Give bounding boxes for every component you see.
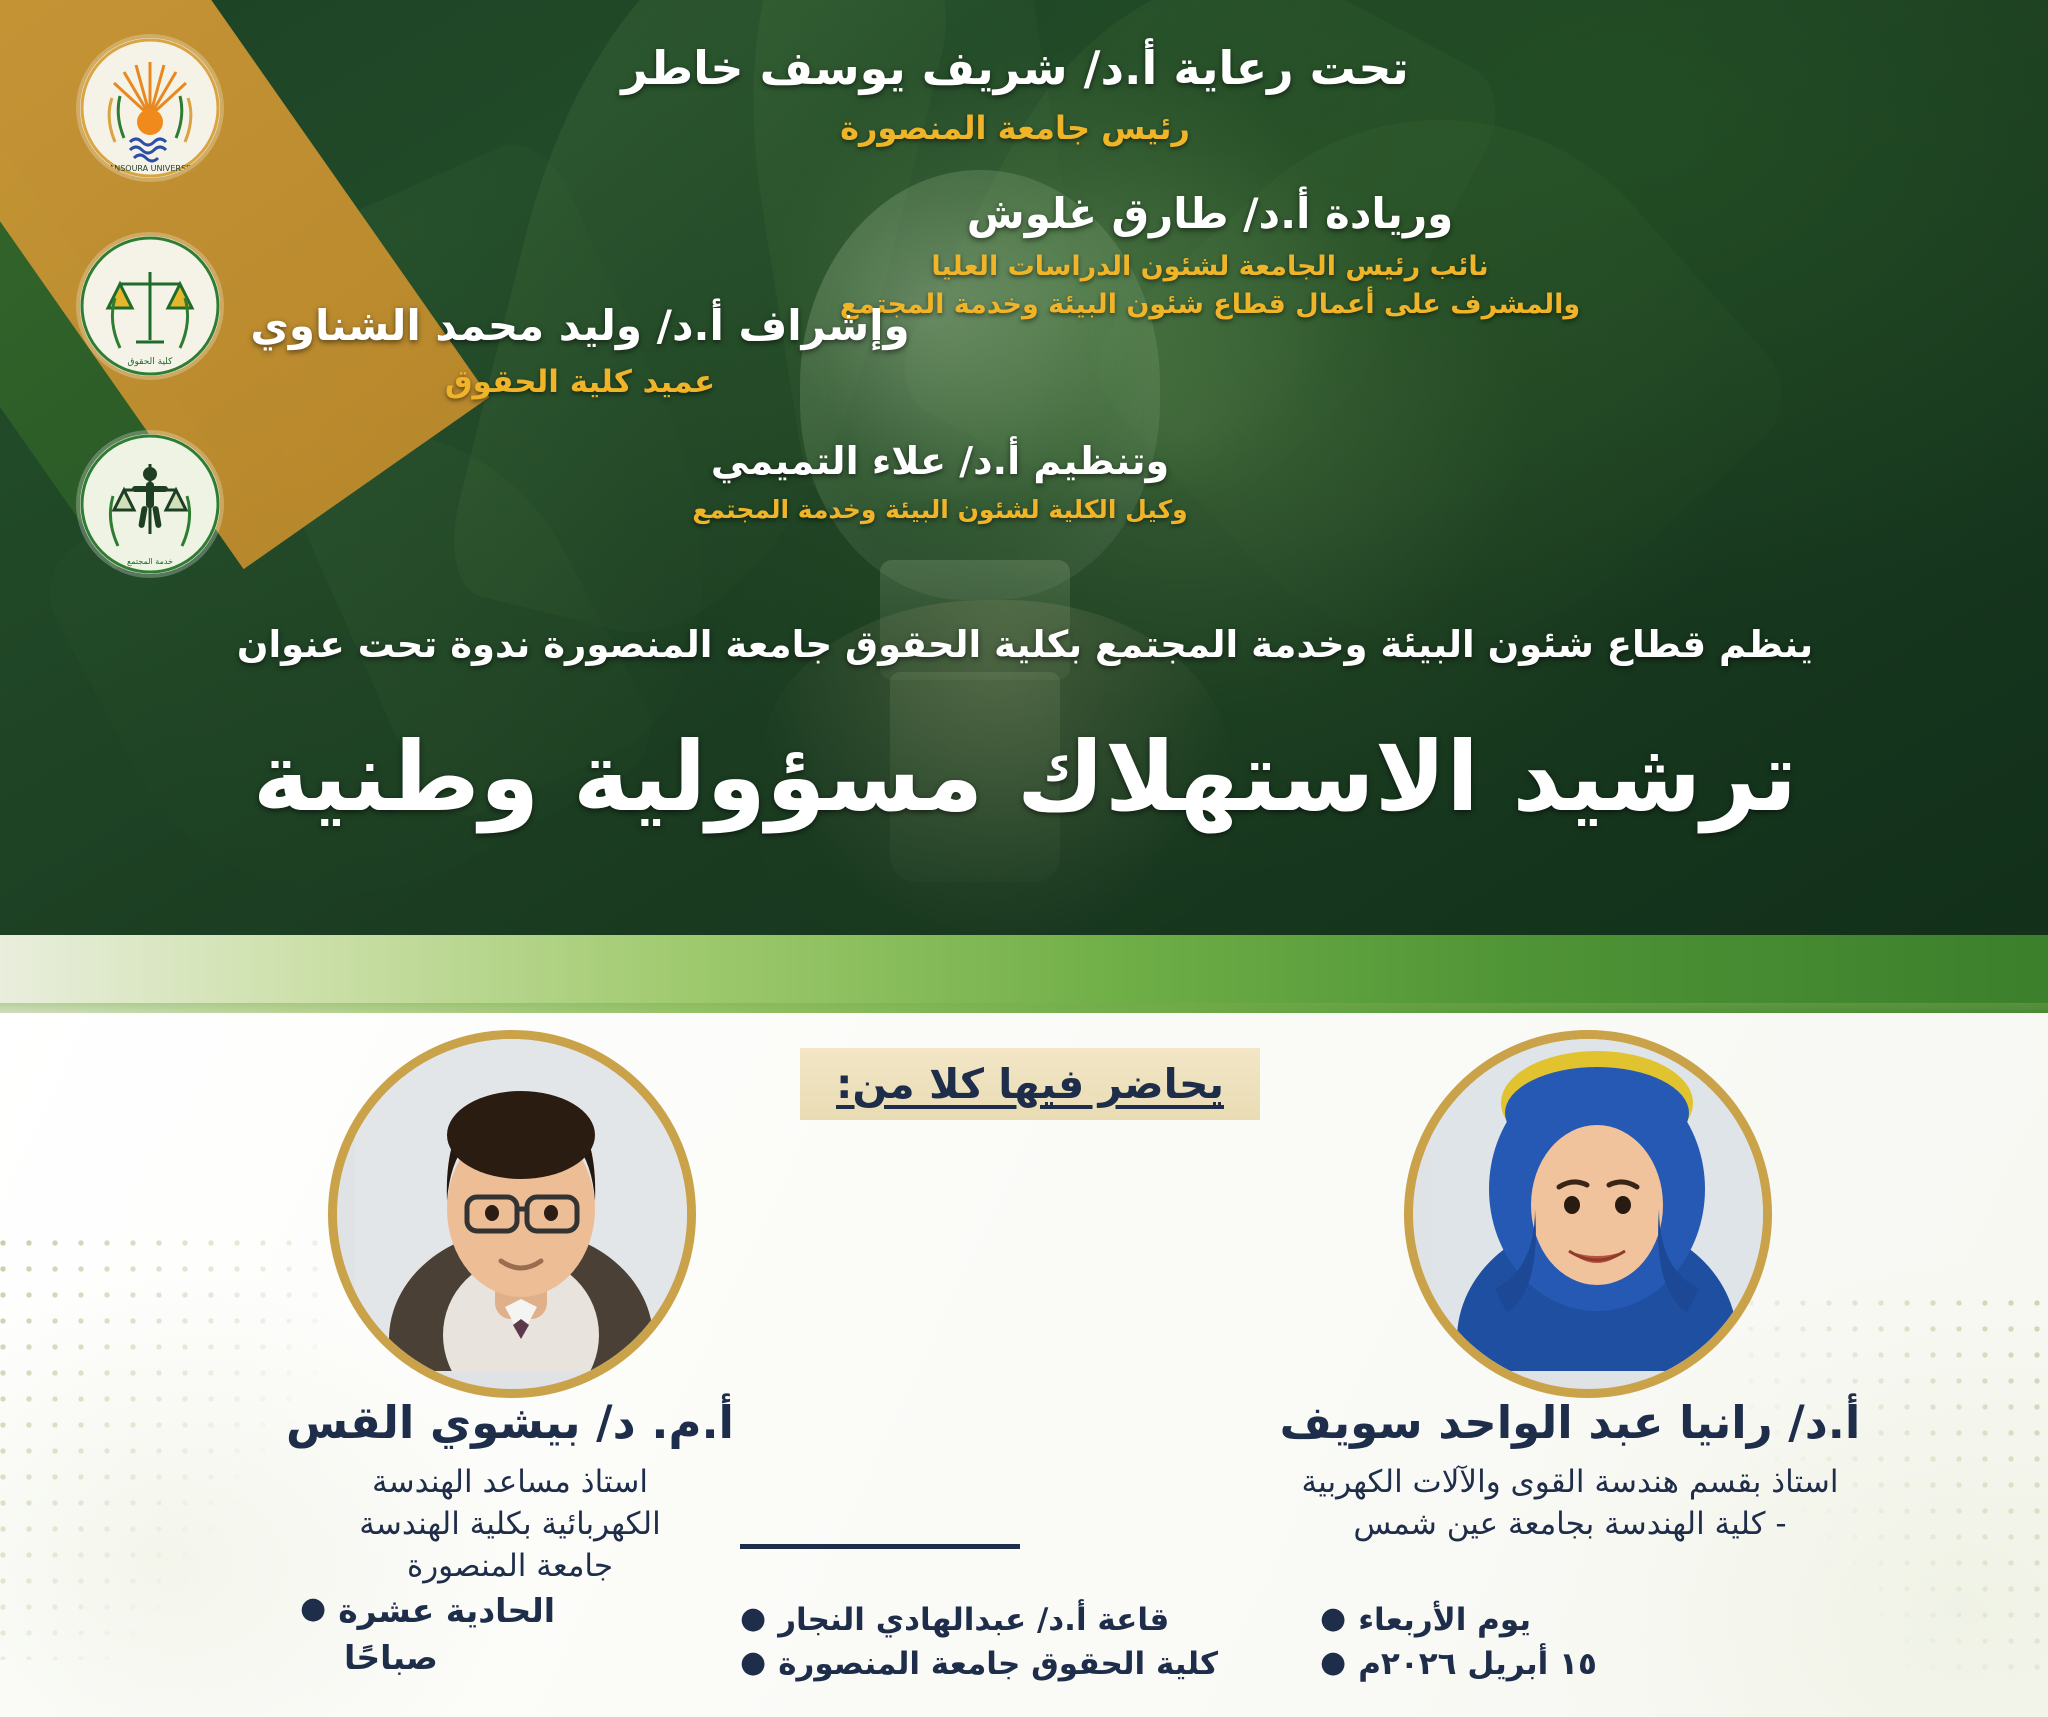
avatar-speaker-right: [1404, 1030, 1772, 1398]
mansoura-university-logo: MANSOURA UNIVERSITY: [80, 38, 220, 178]
section-divider: [740, 1544, 1020, 1549]
poster-header-panel: MANSOURA UNIVERSITY كلية: [0, 0, 2048, 935]
speaker-right-title-line2: - كلية الهندسة بجامعة عين شمس: [1250, 1504, 1890, 1546]
event-time-line2: صباحًا: [344, 1635, 438, 1682]
speaker-left-title-line2: الكهربائية بكلية الهندسة: [240, 1504, 780, 1546]
speaker-right-name: أ.د/ رانيا عبد الواحد سويف: [1250, 1396, 1890, 1450]
speaker-right-title-line1: استاذ بقسم هندسة القوى والآلات الكهربية: [1250, 1462, 1890, 1504]
event-time-line1: الحادية عشرة: [338, 1588, 555, 1635]
event-date-line2: ١٥ أبريل ٢٠٢٦م: [1358, 1642, 1597, 1686]
speakers-heading-band: يحاضر فيها كلا من:: [800, 1048, 1260, 1120]
event-venue-list: قاعة أ.د/ عبدالهادي النجار ● كلية الحقوق…: [740, 1598, 1260, 1686]
avatar-speaker-left: [328, 1030, 696, 1398]
speaker-left-title-line3: جامعة المنصورة: [240, 1546, 780, 1588]
organization-role: وكيل الكلية لشئون البيئة وخدمة المجتمع: [560, 494, 1320, 525]
green-gradient-strip: [0, 935, 2048, 1013]
bullet-icon: ●: [1320, 1598, 1346, 1641]
supervision-name: وإشراف أ.د/ وليد محمد الشناوي: [170, 300, 990, 353]
list-item: الحادية عشرة ●: [300, 1588, 720, 1635]
speaker-right-card: أ.د/ رانيا عبد الواحد سويف استاذ بقسم هن…: [1250, 1396, 1890, 1546]
bullet-icon: ●: [740, 1598, 766, 1641]
patron-role: رئيس جامعة المنصورة: [430, 108, 1600, 148]
leadership-name: وريادة أ.د/ طارق غلوش: [820, 188, 1600, 241]
environment-community-service-logo: خدمة المجتمع: [80, 434, 220, 574]
svg-text:كلية الحقوق: كلية الحقوق: [128, 357, 174, 367]
leadership-role-line1: نائب رئيس الجامعة لشئون الدراسات العليا: [820, 249, 1600, 285]
svg-text:MANSOURA UNIVERSITY: MANSOURA UNIVERSITY: [102, 164, 198, 173]
speakers-heading-text: يحاضر فيها كلا من:: [836, 1060, 1224, 1108]
list-item: ١٥ أبريل ٢٠٢٦م ●: [1320, 1642, 1740, 1686]
speaker-left-card: أ.م. د/ بيشوي القس استاذ مساعد الهندسة ا…: [240, 1396, 780, 1588]
list-item: يوم الأربعاء ●: [1320, 1598, 1740, 1642]
event-venue-line1: قاعة أ.د/ عبدالهادي النجار: [778, 1598, 1169, 1642]
organization-block: وتنظيم أ.د/ علاء التميمي وكيل الكلية لشئ…: [560, 438, 1320, 525]
organization-name: وتنظيم أ.د/ علاء التميمي: [560, 438, 1320, 486]
supervision-block: وإشراف أ.د/ وليد محمد الشناوي عميد كلية …: [170, 300, 990, 401]
patron-block: تحت رعاية أ.د/ شريف يوسف خاطر رئيس جامعة…: [430, 40, 1600, 148]
list-item: كلية الحقوق جامعة المنصورة ●: [740, 1642, 1260, 1686]
speaker-left-name: أ.م. د/ بيشوي القس: [240, 1396, 780, 1450]
supervision-role: عميد كلية الحقوق: [170, 363, 990, 402]
event-venue-line2: كلية الحقوق جامعة المنصورة: [778, 1642, 1218, 1686]
list-item: قاعة أ.د/ عبدالهادي النجار ●: [740, 1598, 1260, 1642]
event-poster: MANSOURA UNIVERSITY كلية: [0, 0, 2048, 1717]
bullet-icon: ●: [1320, 1642, 1346, 1685]
bullet-icon: ●: [740, 1642, 766, 1685]
event-date-list: يوم الأربعاء ● ١٥ أبريل ٢٠٢٦م ●: [1320, 1598, 1740, 1686]
page-title: ترشيد الاستهلاك مسؤولية وطنية: [120, 716, 1930, 839]
patron-name: تحت رعاية أ.د/ شريف يوسف خاطر: [430, 40, 1600, 98]
bullet-icon: ●: [300, 1588, 326, 1631]
speaker-left-title-line1: استاذ مساعد الهندسة: [240, 1462, 780, 1504]
event-time-list: الحادية عشرة ● صباحًا: [300, 1588, 720, 1682]
event-date-line1: يوم الأربعاء: [1358, 1598, 1531, 1642]
list-item: صباحًا: [300, 1635, 720, 1682]
event-description: ينظم قطاع شئون البيئة وخدمة المجتمع بكلي…: [100, 622, 1950, 668]
svg-text:خدمة المجتمع: خدمة المجتمع: [127, 557, 173, 566]
